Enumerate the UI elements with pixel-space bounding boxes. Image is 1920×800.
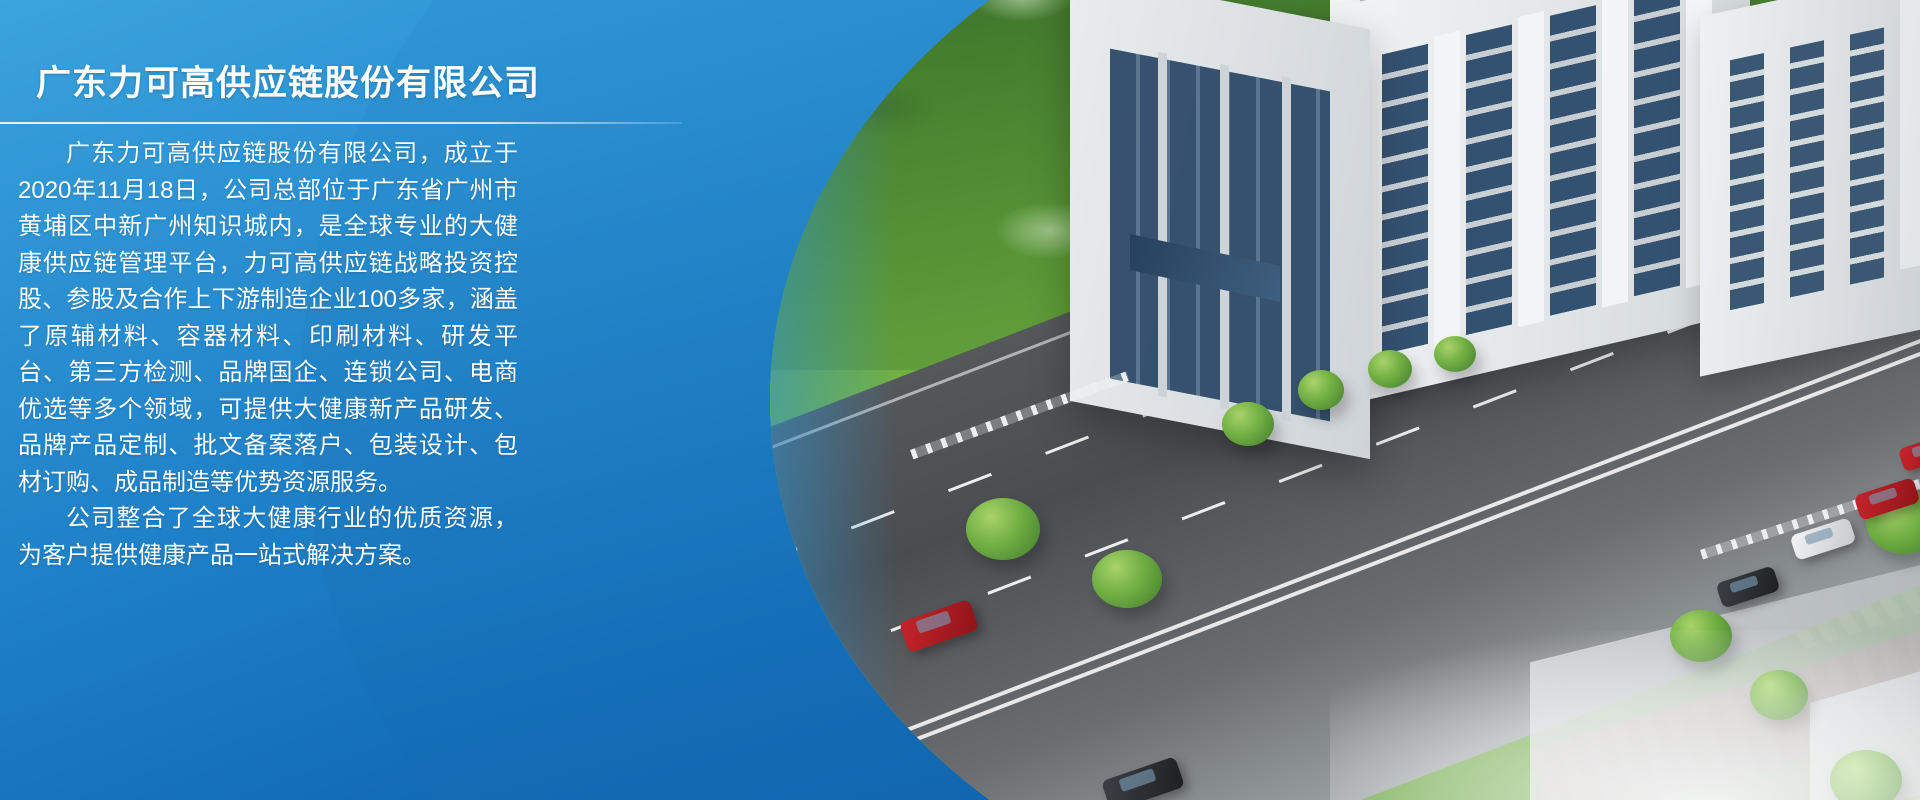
text-panel: 广东力可高供应链股份有限公司 广东力可高供应链股份有限公司，成立于2020年11… [0, 0, 700, 800]
company-description-paragraph-2: 公司整合了全球大健康行业的优质资源，为客户提供健康产品一站式解决方案。 [18, 501, 518, 574]
facility-photo-image [770, 0, 1920, 800]
company-profile-banner: 广东力可高供应链股份有限公司 广东力可高供应链股份有限公司，成立于2020年11… [0, 0, 1920, 800]
company-description: 广东力可高供应链股份有限公司，成立于2020年11月18日，公司总部位于广东省广… [18, 136, 518, 574]
page-title: 广东力可高供应链股份有限公司 [36, 55, 540, 106]
title-divider [0, 122, 682, 124]
facility-photo [770, 0, 1920, 800]
company-description-paragraph-1: 广东力可高供应链股份有限公司，成立于2020年11月18日，公司总部位于广东省广… [18, 136, 518, 501]
photo-edge-fade [770, 0, 1920, 800]
